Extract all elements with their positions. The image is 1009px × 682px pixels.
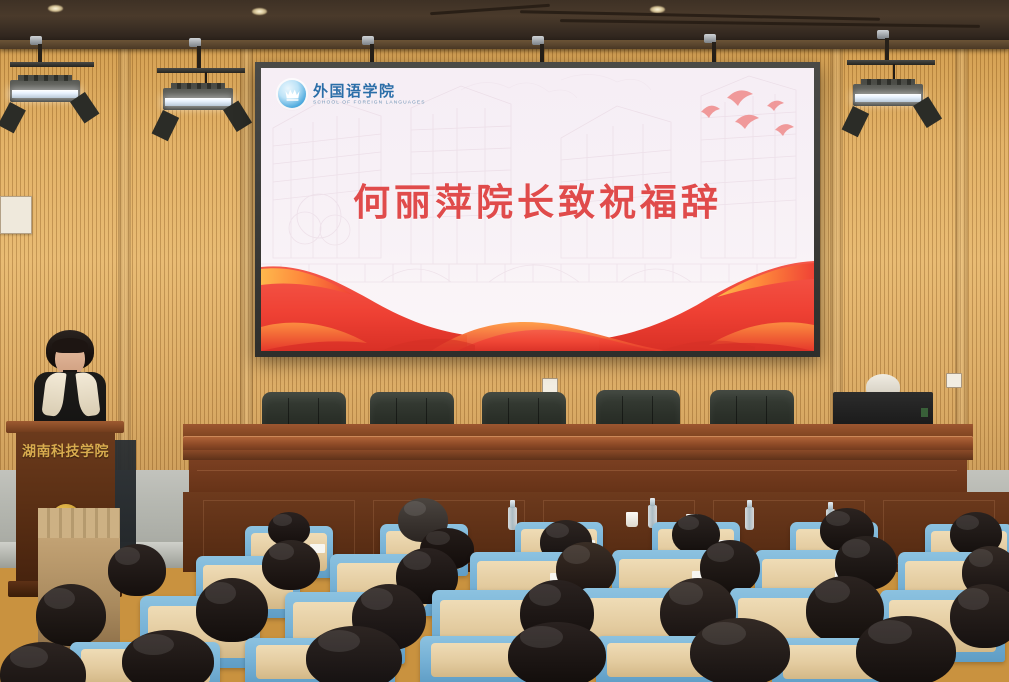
table-top [183,436,973,451]
monitor-badge-icon [921,408,928,417]
audience-head [950,584,1009,648]
light-rod [712,42,716,64]
wall-notice-panel [0,196,32,234]
light-housing [163,88,233,110]
audience-head [508,622,606,682]
slide-logo-name-en: SCHOOL OF FOREIGN LANGUAGES [313,101,426,106]
projection-screen: 外国语学院 SCHOOL OF FOREIGN LANGUAGES 何丽萍院长致… [261,68,814,351]
audience-head [262,540,320,590]
slide-logo: 外国语学院 SCHOOL OF FOREIGN LANGUAGES [278,80,396,108]
light-bar [157,68,245,73]
light-lens [855,94,921,102]
stage-light [8,36,94,126]
speaker-bangs [52,338,88,353]
red-ribbon-graphic [261,255,814,351]
ceiling-spotlight [650,6,665,13]
light-lens [165,98,231,106]
podium-institution-name: 湖南科技学院 [16,441,115,461]
light-bar [10,62,94,67]
slide-logo-text: 外国语学院 SCHOOL OF FOREIGN LANGUAGES [313,84,396,105]
light-lens [12,90,78,98]
light-ridge [171,83,225,89]
projection-screen-frame: 外国语学院 SCHOOL OF FOREIGN LANGUAGES 何丽萍院长致… [255,62,820,357]
stage-light [155,38,245,133]
light-ridge [861,79,915,85]
ceiling-spotlight [252,8,267,15]
slide-logo-name-cn: 外国语学院 [313,84,396,99]
wall-outlet-icon [542,378,558,393]
slide-title: 何丽萍院长致祝福辞 [261,172,814,226]
auditorium-photo: 外国语学院 SCHOOL OF FOREIGN LANGUAGES 何丽萍院长致… [0,0,1009,682]
light-bar [847,60,935,65]
wall-outlet-icon [946,373,962,388]
light-rod [38,44,42,62]
table-panel-line [197,470,957,471]
school-crest-icon [278,80,306,108]
speaker-person [30,330,110,430]
light-housing [10,80,80,102]
audience-head [108,544,166,596]
swallow-birds-icon [691,86,801,146]
ceiling-spotlight [48,5,63,12]
audience-head [306,626,402,682]
light-ridge [18,75,72,81]
stage-light [845,30,935,125]
audience-head [856,616,956,682]
light-rod [197,46,201,68]
table-lip [183,450,973,460]
light-housing [853,84,923,106]
audience-area [0,492,1009,682]
crest-glyph [284,87,301,102]
audience-head [690,618,790,682]
audience-head [196,578,268,642]
audience-head [36,584,106,646]
light-rod [885,38,889,60]
